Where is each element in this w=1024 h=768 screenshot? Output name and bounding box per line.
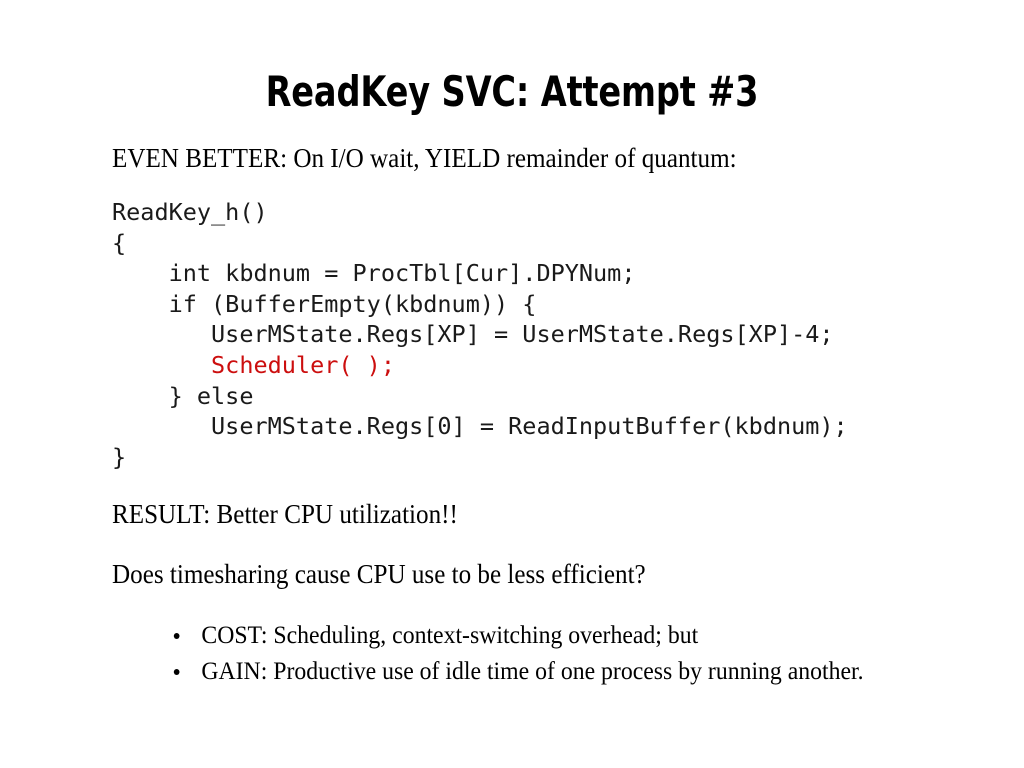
result-paragraph: RESULT: Better CPU utilization!!: [112, 498, 912, 531]
code-line: } else: [112, 381, 972, 412]
code-line: }: [112, 442, 972, 473]
intro-paragraph: EVEN BETTER: On I/O wait, YIELD remainde…: [112, 142, 912, 175]
slide-canvas: ReadKey SVC: Attempt #3 EVEN BETTER: On …: [0, 0, 1024, 768]
code-line-highlighted: Scheduler( );: [112, 350, 972, 381]
list-item: COST: Scheduling, context-switching over…: [170, 618, 866, 654]
list-item: GAIN: Productive use of idle time of one…: [170, 654, 866, 690]
code-line: int kbdnum = ProcTbl[Cur].DPYNum;: [112, 258, 972, 289]
bullet-dot-icon: [174, 633, 180, 639]
list-item-label: GAIN: Productive use of idle time of one…: [201, 658, 863, 685]
bullet-dot-icon: [174, 669, 180, 675]
code-line: UserMState.Regs[XP] = UserMState.Regs[XP…: [112, 319, 972, 350]
slide-body: EVEN BETTER: On I/O wait, YIELD remainde…: [112, 142, 972, 690]
code-line: ReadKey_h(): [112, 197, 972, 228]
question-paragraph: Does timesharing cause CPU use to be les…: [112, 558, 912, 591]
code-line: UserMState.Regs[0] = ReadInputBuffer(kbd…: [112, 411, 972, 442]
code-line: {: [112, 228, 972, 259]
code-block: ReadKey_h(){ int kbdnum = ProcTbl[Cur].D…: [112, 197, 972, 472]
list-item-label: COST: Scheduling, context-switching over…: [201, 622, 698, 649]
page-title: ReadKey SVC: Attempt #3: [102, 66, 921, 118]
code-line: if (BufferEmpty(kbdnum)) {: [112, 289, 972, 320]
code-content: ReadKey_h(){ int kbdnum = ProcTbl[Cur].D…: [112, 197, 972, 472]
bullet-list: COST: Scheduling, context-switching over…: [112, 618, 972, 690]
